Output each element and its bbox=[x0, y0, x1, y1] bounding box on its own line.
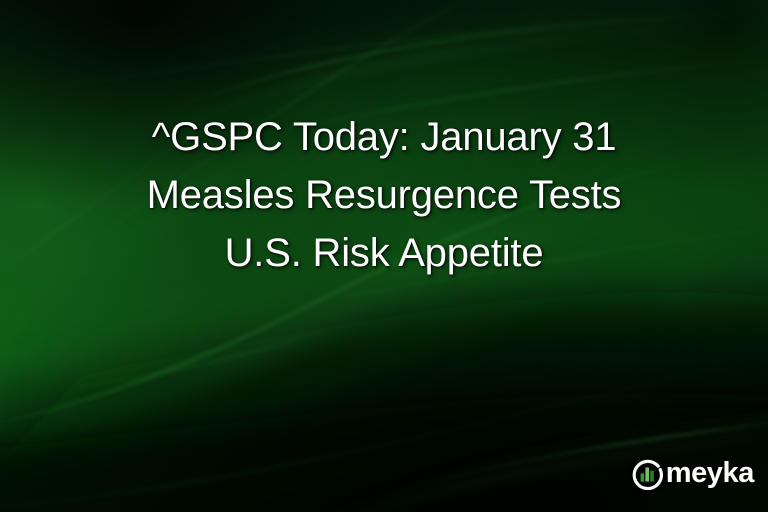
social-card: ^GSPC Today: January 31 Measles Resurgen… bbox=[0, 0, 768, 512]
bar-chart-circle-icon bbox=[631, 456, 665, 490]
brand-logo[interactable]: meyka bbox=[631, 456, 754, 490]
bar-1 bbox=[640, 473, 644, 481]
bar-3 bbox=[650, 471, 654, 482]
headline-line-2: Measles Resurgence Tests bbox=[40, 166, 728, 224]
headline-line-1: ^GSPC Today: January 31 bbox=[40, 108, 728, 166]
headline: ^GSPC Today: January 31 Measles Resurgen… bbox=[0, 108, 768, 282]
bar-2 bbox=[645, 467, 649, 481]
headline-line-3: U.S. Risk Appetite bbox=[40, 224, 728, 282]
brand-wordmark: meyka bbox=[666, 459, 754, 488]
